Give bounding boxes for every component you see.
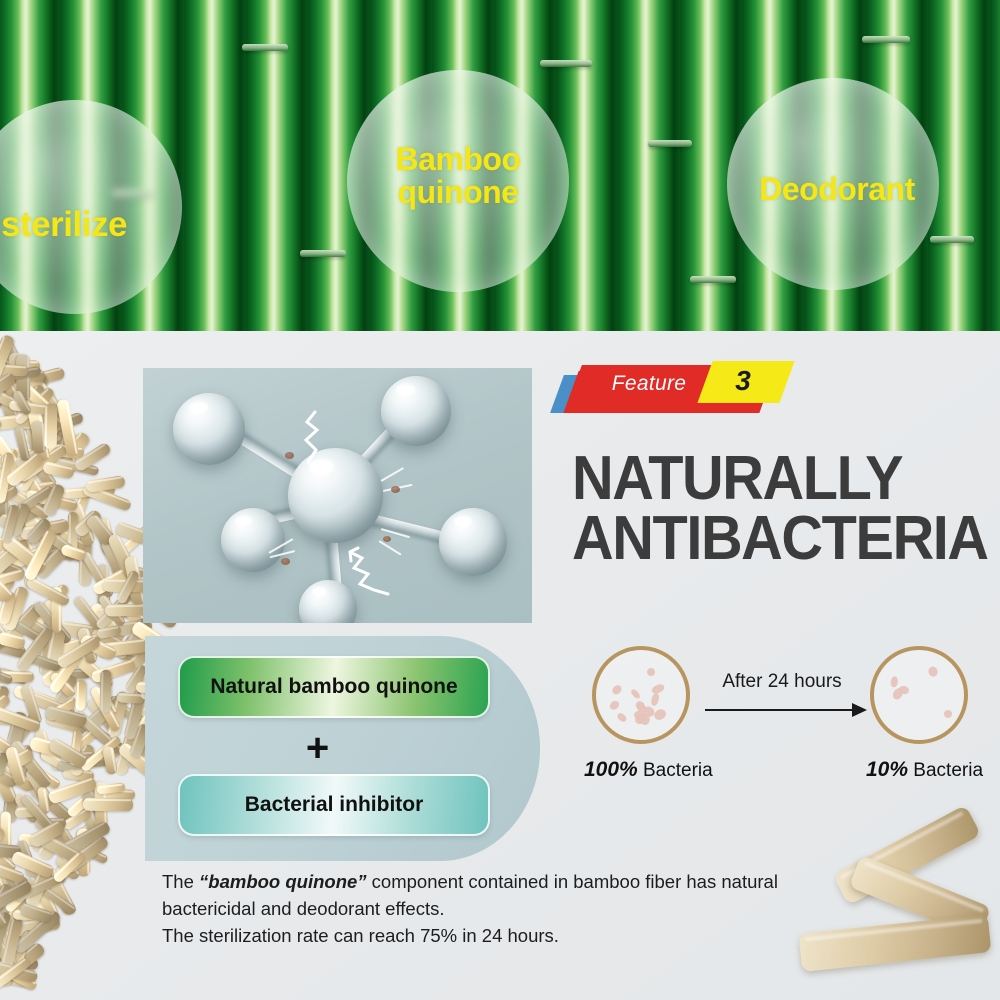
bacteria-dot [651,683,666,695]
after-24-hours-label: After 24 hours [692,671,872,693]
germ-dot [391,486,400,493]
bamboo-node [300,250,346,257]
feature-number: 3 [715,365,771,397]
wood-pellet [83,798,133,811]
deodorant-bubble: Deodorant [727,78,939,290]
wood-pellet [75,679,86,711]
bacteria-dot [944,709,953,718]
bacteria-comparison: After 24 hours 100% Bacteria 10% Bacteri… [580,636,995,821]
molecule-atom [173,393,245,465]
germ-dot [383,536,391,542]
page-title-line1: NATURALLY [572,449,963,509]
bacteria-dot [645,666,656,677]
petri-dish-after [870,646,968,744]
molecule-illustration [143,368,532,623]
bacteria-dot [653,708,668,722]
bacteria-after-unit: Bacteria [908,760,983,781]
wood-pellet [100,670,111,713]
molecule-atom [381,376,451,446]
bamboo-quinone-bubble: Bamboo quinone [347,70,569,292]
molecule-ray [381,467,405,482]
bamboo-node [930,236,974,243]
description-emphasis: “bamboo quinone” [199,871,367,892]
bacteria-caption-before: 100% Bacteria [584,758,713,782]
petri-dish-before [592,646,690,744]
formula-box-bacterial-inhibitor: Bacterial inhibitor [178,774,490,836]
bacteria-before-unit: Bacteria [638,760,713,781]
bacteria-dot [629,688,641,700]
bacteria-after-value: 10% [866,758,908,781]
germ-dot [285,452,294,459]
bacteria-before-value: 100% [584,758,638,781]
description-text: The “bamboo quinone” component contained… [162,869,852,949]
bacteria-caption-after: 10% Bacteria [866,758,983,782]
page-title: NATURALLY ANTIBACTERIA [572,449,963,568]
molecule-atom [439,508,507,576]
bacteria-dot [890,676,898,687]
description-line2: bactericidal and deodorant effects. [162,898,445,919]
molecule-atom [221,508,285,572]
transition-arrow-line [705,709,860,711]
bamboo-node [242,44,288,51]
formula-box-natural-bamboo-quinone: Natural bamboo quinone [178,656,490,718]
bamboo-node [648,140,692,147]
deodorant-label: Deodorant [759,173,915,206]
feature-badge: Feature 3 [557,365,787,413]
description-line1-post: component contained in bamboo fiber has … [367,871,778,892]
molecule-squiggle-icon [301,410,325,464]
wood-pellet [799,914,992,972]
wood-pellet-closeup [810,828,1000,1000]
formula-box-top-label: Natural bamboo quinone [210,675,457,699]
infographic-page: sterilize Bamboo quinone Deodorant [0,0,1000,1000]
bacteria-dot [928,666,939,677]
molecule-squiggle-icon [348,546,392,596]
bacteria-dot [607,699,620,712]
formula-panel: Natural bamboo quinone + Bacterial inhib… [145,636,540,861]
bamboo-banner: sterilize Bamboo quinone Deodorant [0,0,1000,331]
bamboo-quinone-label: Bamboo quinone [396,143,521,208]
bamboo-quinone-label-line2: quinone [398,174,519,210]
page-title-line2: ANTIBACTERIA [572,509,963,569]
wood-pellet [104,604,147,617]
germ-dot [281,558,290,565]
sterilize-label: sterilize [1,207,127,243]
description-line3: The sterilization rate can reach 75% in … [162,925,559,946]
description-line1-pre: The [162,871,199,892]
transition-arrow-head-icon [852,703,867,717]
bamboo-node [540,60,592,67]
wood-pellet [43,404,56,449]
content-panel: Feature 3 NATURALLY ANTIBACTERIA Natural… [0,331,1000,1000]
formula-plus-operator: + [145,728,490,768]
feature-label: Feature [589,372,709,396]
bamboo-node [690,276,736,283]
bamboo-quinone-label-line1: Bamboo [396,141,521,177]
bacteria-dot [611,683,624,696]
bacteria-dot [616,712,628,724]
bamboo-node [862,36,910,43]
bacteria-dot [651,692,661,706]
formula-box-bottom-label: Bacterial inhibitor [245,793,424,817]
